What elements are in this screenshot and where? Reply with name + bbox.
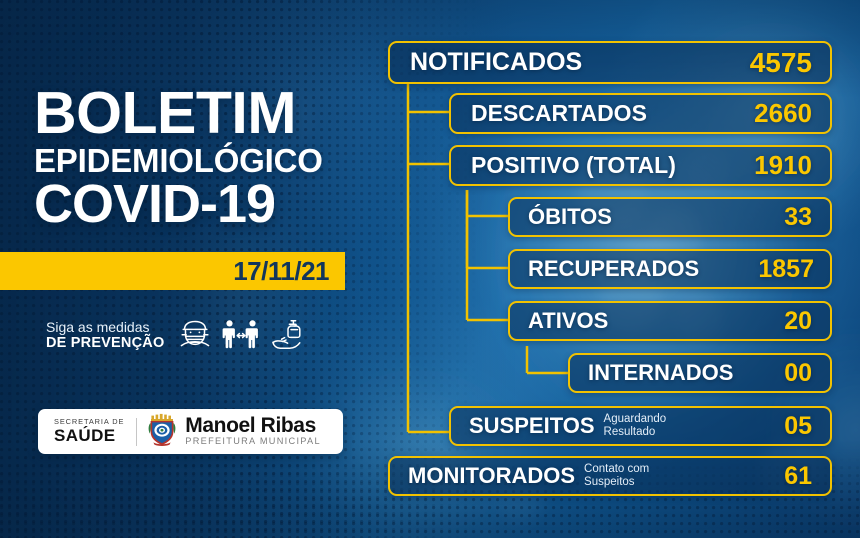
stat-row-internados: INTERNADOS 00 (568, 353, 832, 393)
stat-sublabel-line1: Contato com (584, 463, 649, 476)
stat-value: 4575 (750, 47, 812, 79)
stat-value: 20 (784, 307, 812, 336)
stat-sublabel-line1: Aguardando (604, 413, 667, 426)
stat-label: ATIVOS (528, 308, 608, 334)
stat-value: 00 (784, 359, 812, 388)
stat-sublabel-line2: Suspeitos (584, 476, 649, 489)
stat-sublabel-line2: Resultado (604, 426, 667, 439)
stat-value: 1910 (754, 150, 812, 181)
stat-row-obitos: ÓBITOS 33 (508, 197, 832, 237)
covid-bulletin-poster: BOLETIM EPIDEMIOLÓGICO COVID-19 17/11/21… (0, 0, 860, 538)
stat-row-descartados: DESCARTADOS 2660 (449, 93, 832, 134)
stat-label: ÓBITOS (528, 204, 612, 230)
stat-row-suspeitos: SUSPEITOS Aguardando Resultado 05 (449, 406, 832, 446)
stat-label: MONITORADOS (408, 463, 575, 489)
stat-label: RECUPERADOS (528, 256, 699, 282)
stat-label: POSITIVO (TOTAL) (471, 152, 676, 179)
stat-label: INTERNADOS (588, 360, 733, 386)
stat-sublabel: Contato com Suspeitos (584, 463, 649, 489)
stat-label: SUSPEITOS (469, 413, 595, 439)
stat-label: DESCARTADOS (471, 100, 647, 127)
stat-row-recuperados: RECUPERADOS 1857 (508, 249, 832, 289)
stat-row-notificados: NOTIFICADOS 4575 (388, 41, 832, 84)
statistics-tree: NOTIFICADOS 4575 DESCARTADOS 2660 POSITI… (0, 0, 860, 538)
stat-value: 2660 (754, 98, 812, 129)
stat-value: 61 (784, 462, 812, 491)
stat-value: 05 (784, 412, 812, 441)
stat-row-monitorados: MONITORADOS Contato com Suspeitos 61 (388, 456, 832, 496)
stat-value: 1857 (758, 255, 814, 284)
stat-row-ativos: ATIVOS 20 (508, 301, 832, 341)
stat-label: NOTIFICADOS (410, 48, 582, 77)
stat-row-positivo-total: POSITIVO (TOTAL) 1910 (449, 145, 832, 186)
stat-sublabel: Aguardando Resultado (604, 413, 667, 439)
stat-value: 33 (784, 203, 812, 232)
